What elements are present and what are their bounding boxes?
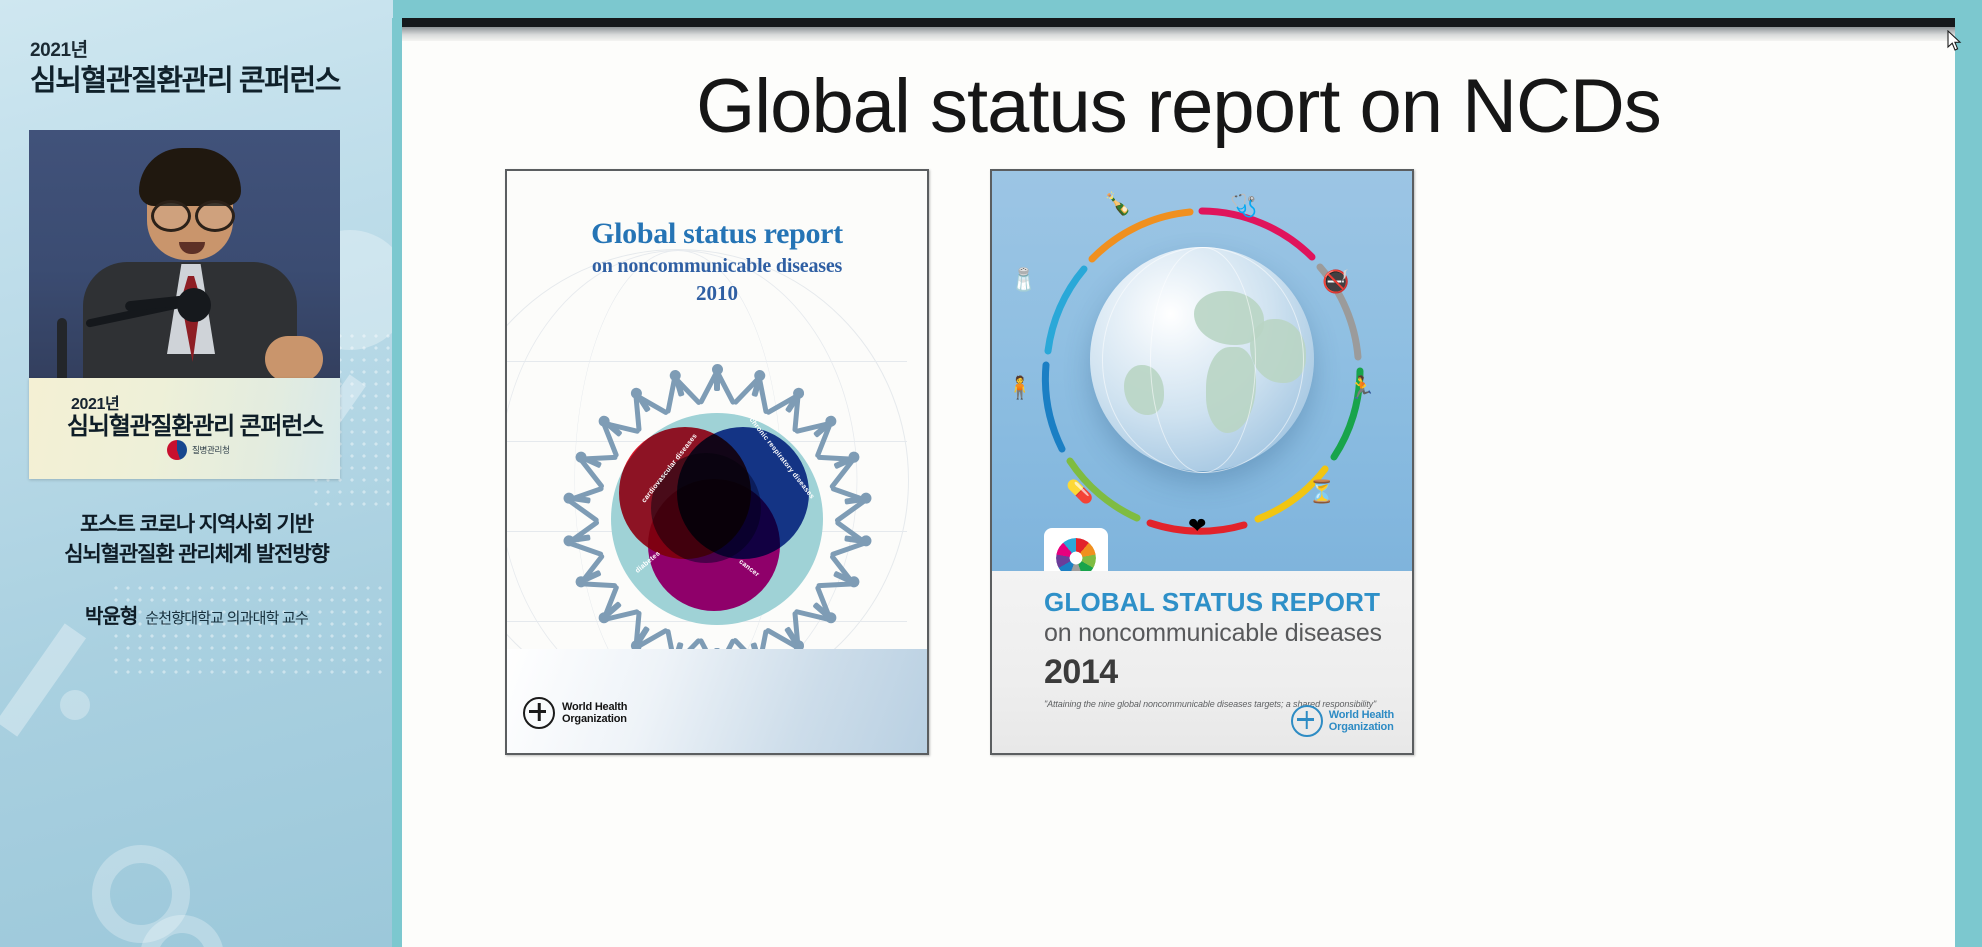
pinwheel-icon: [1056, 538, 1096, 571]
conference-year: 2021년: [30, 40, 340, 63]
cover2010-subtitle: on noncommunicable diseases: [507, 255, 927, 278]
who-logo-2010: World Health Organization: [523, 697, 627, 729]
talk-title-line2: 심뇌혈관질환 관리체계 발전방향: [0, 540, 393, 570]
kdca-logo-icon: [167, 440, 187, 460]
decor-dotgrid-mid: [110, 582, 390, 682]
blood-pressure-icon: 🩺: [1230, 195, 1257, 217]
cover2014-subtitle: on noncommunicable diseases: [1044, 619, 1382, 648]
cover2014-text-block: GLOBAL STATUS REPORT on noncommunicable …: [992, 571, 1412, 753]
obesity-scale-icon: 🧍: [1006, 377, 1033, 399]
report-cover-2010[interactable]: Global status report on noncommunicable …: [505, 169, 929, 755]
who-line2: Organization: [562, 713, 627, 725]
linked-arm: [579, 553, 605, 585]
cover2010-year: 2010: [507, 281, 927, 306]
linked-arm: [830, 540, 866, 557]
who-emblem-icon: [1291, 705, 1323, 737]
mouse-pointer-icon: [1947, 30, 1963, 52]
cover2014-title: GLOBAL STATUS REPORT: [1044, 587, 1380, 618]
talk-title-line1: 포스트 코로나 지역사회 기반: [0, 510, 393, 540]
webinar-left-panel: 2021년 심뇌혈관질환관리 콘퍼런스 2021년 심뇌혈관질환관리 콘퍼런스 …: [0, 0, 393, 947]
pill-bottle-icon: 💊: [1066, 481, 1093, 503]
presentation-slide: Global status report on NCDs Global stat…: [402, 41, 1955, 947]
ncd-pinwheel-logo: [1044, 528, 1108, 571]
conference-title: 심뇌혈관질환관리 콘퍼런스: [30, 65, 340, 98]
who-label: World Health Organization: [1329, 709, 1394, 734]
banner-org-label: 질병관리청: [192, 444, 230, 456]
speaker-name: 박윤형: [85, 606, 137, 628]
speaker-affiliation: 순천향대학교 의과대학 교수: [145, 610, 308, 627]
speaker-credit: 박윤형순천향대학교 의과대학 교수: [0, 600, 393, 629]
no-smoking-icon: 🚭: [1322, 271, 1349, 293]
cover2014-year: 2014: [1044, 653, 1118, 692]
hourglass-icon: ⏳: [1308, 481, 1335, 503]
cover2010-title: Global status report: [507, 217, 927, 251]
slide-top-bar: [402, 18, 1955, 27]
report-cover-2014[interactable]: 🍾 🩺 🚭 🏃 ⏳ ❤ 💊 🧍 🧂 GLOBAL STATUS REPORT o…: [990, 169, 1414, 755]
linked-arm: [757, 377, 769, 414]
who-label: World Health Organization: [562, 701, 627, 726]
slide-top-fade: [402, 27, 1955, 41]
decor-circle-2: [60, 690, 90, 720]
slide-title: Global status report on NCDs: [402, 63, 1955, 150]
conference-heading: 2021년 심뇌혈관질환관리 콘퍼런스: [30, 40, 340, 98]
banner-organization: 질병관리청: [167, 440, 230, 460]
conference-banner-card: 2021년 심뇌혈관질환관리 콘퍼런스 질병관리청: [29, 378, 340, 479]
who-logo-2014: World Health Organization: [1291, 705, 1394, 737]
running-person-icon: 🏃: [1348, 377, 1375, 399]
who-emblem-icon: [523, 697, 555, 729]
salt-shaker-icon: 🧂: [1010, 269, 1037, 291]
ncd-venn-diagram: cardiovascular diseases chronic respirat…: [611, 413, 823, 625]
who-line2: Organization: [1329, 721, 1394, 733]
banner-title: 심뇌혈관질환관리 콘퍼런스: [67, 406, 323, 441]
who-line1: World Health: [1329, 709, 1394, 721]
slide-viewport: Global status report on NCDs Global stat…: [392, 18, 1965, 947]
talk-title: 포스트 코로나 지역사회 기반 심뇌혈관질환 관리체계 발전방향: [0, 510, 393, 571]
who-line1: World Health: [562, 701, 627, 713]
alcohol-bottles-icon: 🍾: [1104, 193, 1131, 215]
speaker-photo: [29, 130, 340, 380]
heart-pulse-icon: ❤: [1188, 515, 1206, 537]
cover2014-artwork: 🍾 🩺 🚭 🏃 ⏳ ❤ 💊 🧍 🧂: [992, 171, 1412, 571]
